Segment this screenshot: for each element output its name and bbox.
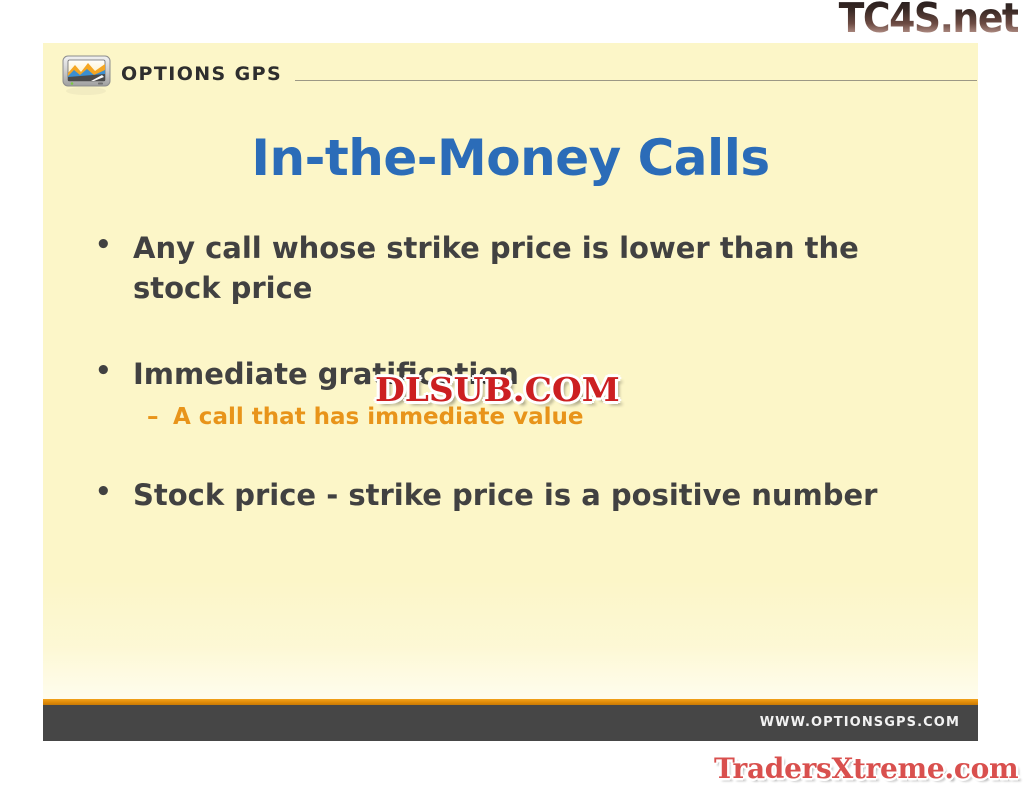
tc4s-logo: TC4S.net <box>838 0 1018 39</box>
page-canvas: TC4S.net <box>0 0 1024 791</box>
list-item: • Any call whose strike price is lower t… <box>95 228 965 308</box>
bullet-marker: • <box>95 475 133 511</box>
bullet-text: Any call whose strike price is lower tha… <box>133 228 923 308</box>
bullet-marker: • <box>95 228 133 264</box>
slide-footer: www.OptionsGPS.com <box>43 705 978 741</box>
tradersxtreme-watermark: TradersXtreme.com <box>714 752 1018 785</box>
gps-device-icon <box>61 53 113 97</box>
slide-header: Options GPS <box>43 43 978 101</box>
brand-label: Options GPS <box>121 63 282 85</box>
spacer <box>95 308 965 354</box>
slide-bottom-fade <box>43 580 978 700</box>
page-title: In-the-Money Calls <box>43 129 978 187</box>
header-divider <box>295 80 977 81</box>
footer-url: www.OptionsGPS.com <box>760 715 960 730</box>
sub-bullet-marker: – <box>147 402 173 433</box>
list-item: • Stock price - strike price is a positi… <box>95 475 965 515</box>
dlsub-watermark: DLSUB.COM <box>375 370 620 409</box>
bullet-text: Stock price - strike price is a positive… <box>133 475 923 515</box>
bullet-marker: • <box>95 354 133 390</box>
spacer <box>95 433 965 475</box>
